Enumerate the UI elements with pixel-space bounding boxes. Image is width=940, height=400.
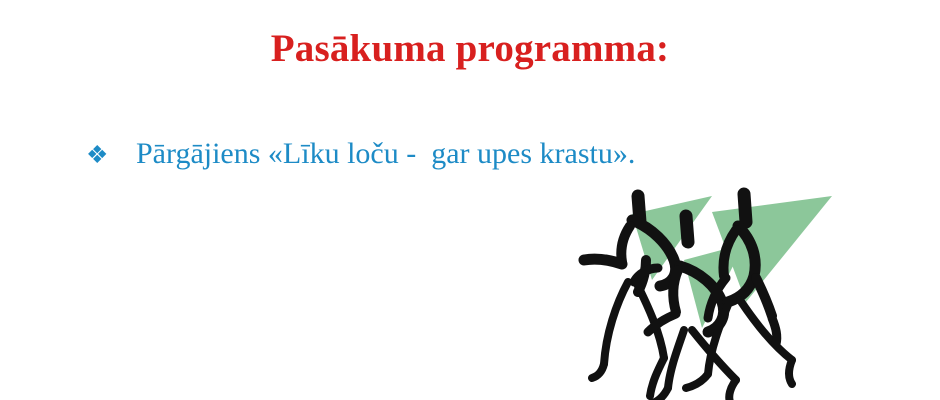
hikers-svg (560, 182, 870, 400)
bullet-item-label: Pārgājiens «Līku loču - gar upes krastu»… (136, 134, 635, 174)
slide-title: Pasākuma programma: (0, 24, 940, 74)
list-item: ❖ Pārgājiens «Līku loču - gar upes krast… (86, 134, 906, 176)
diamond-cluster-bullet-icon: ❖ (86, 136, 136, 176)
presentation-slide: Pasākuma programma: ❖ Pārgājiens «Līku l… (0, 0, 940, 400)
diamond-cluster-bullet-icon: ❖ (86, 394, 136, 400)
bullet-list: ❖ Pārgājiens «Līku loču - gar upes krast… (86, 134, 906, 176)
backpack-triangles (632, 196, 832, 328)
bullet-item-label: Brokastis un atpūta pie ugunskura. (136, 392, 552, 400)
hiking-figures-illustration (560, 182, 870, 400)
